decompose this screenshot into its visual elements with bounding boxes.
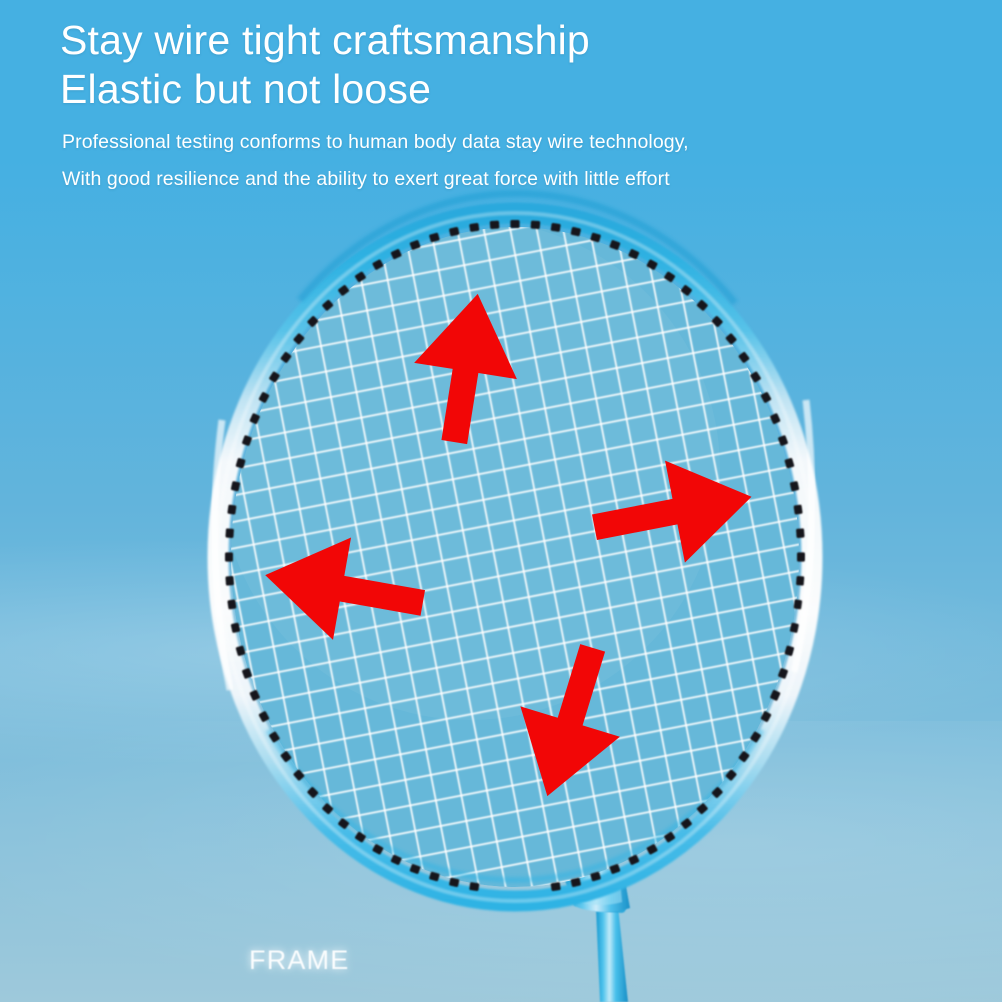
subtitle-block: Professional testing conforms to human b…: [62, 124, 962, 198]
headline-line-1: Stay wire tight craftsmanship: [60, 16, 940, 65]
subtitle-line-2: With good resilience and the ability to …: [62, 161, 962, 198]
subtitle-line-1: Professional testing conforms to human b…: [62, 124, 962, 161]
headline-block: Stay wire tight craftsmanship Elastic bu…: [60, 16, 940, 114]
headline-line-2: Elastic but not loose: [60, 65, 940, 114]
product-banner: Stay wire tight craftsmanship Elastic bu…: [0, 0, 1002, 1002]
frame-caption-label: FRAME: [249, 945, 350, 976]
racket-shaft: [592, 898, 628, 1002]
